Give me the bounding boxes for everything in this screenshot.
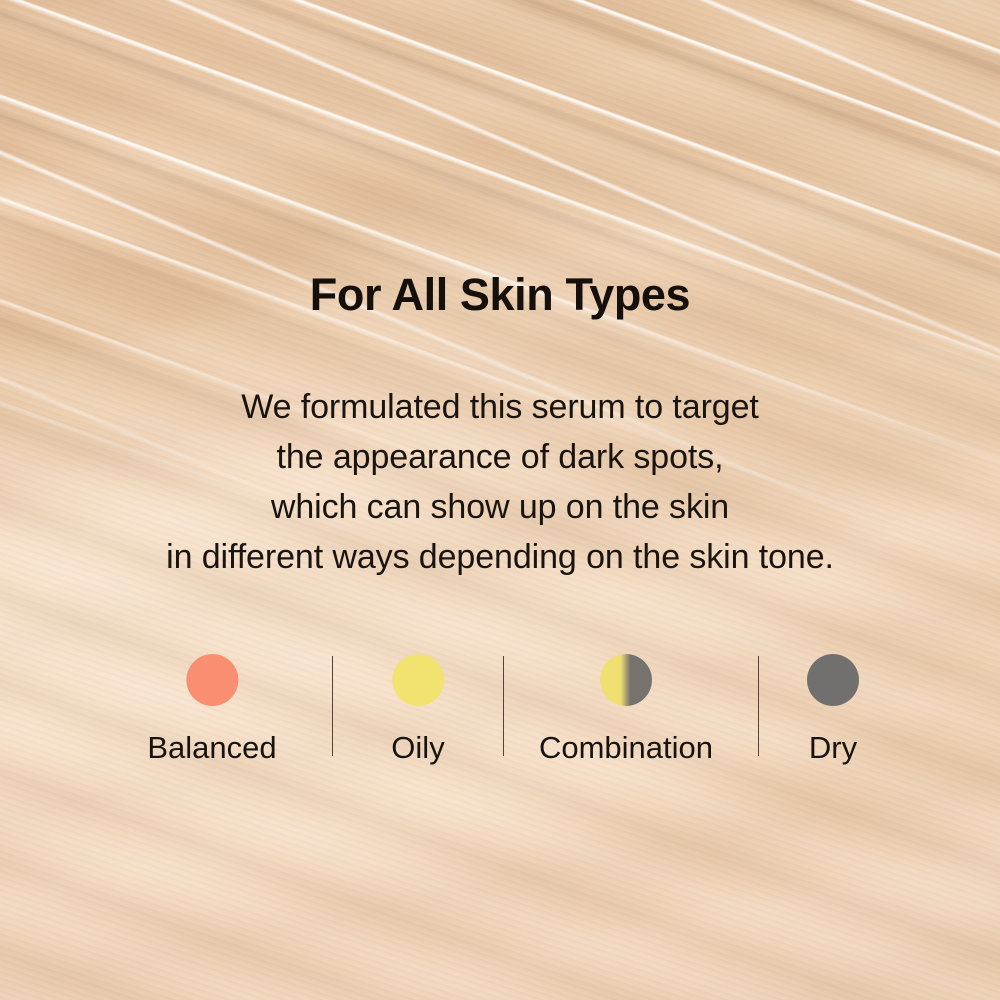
skin-type-item-dry[interactable]: Dry — [807, 648, 859, 763]
split-dot-icon — [600, 654, 652, 706]
description-line-2: the appearance of dark spots, — [0, 432, 1000, 482]
skin-type-item-oily[interactable]: Oily — [391, 648, 444, 763]
legend-divider-1 — [332, 656, 333, 756]
description-line-1: We formulated this serum to target — [0, 382, 1000, 432]
skincare-infographic-card: For All Skin Types We formulated this se… — [0, 0, 1000, 1000]
description-paragraph: We formulated this serum to target the a… — [0, 382, 1000, 582]
skin-type-label: Combination — [539, 732, 713, 763]
skin-type-legend: BalancedOilyCombinationDry — [0, 648, 1000, 768]
skin-type-item-balanced[interactable]: Balanced — [147, 648, 276, 763]
description-line-3: which can show up on the skin — [0, 482, 1000, 532]
skin-type-label: Oily — [391, 732, 444, 763]
solid-dot-icon — [186, 654, 238, 706]
description-line-4: in different ways depending on the skin … — [0, 532, 1000, 582]
card-content: For All Skin Types We formulated this se… — [0, 0, 1000, 1000]
legend-divider-3 — [758, 656, 759, 756]
solid-dot-icon — [392, 654, 444, 706]
page-title: For All Skin Types — [0, 272, 1000, 317]
skin-type-label: Balanced — [147, 732, 276, 763]
legend-divider-2 — [503, 656, 504, 756]
skin-type-item-combination[interactable]: Combination — [539, 648, 713, 763]
skin-type-label: Dry — [807, 732, 859, 763]
solid-dot-icon — [807, 654, 859, 706]
